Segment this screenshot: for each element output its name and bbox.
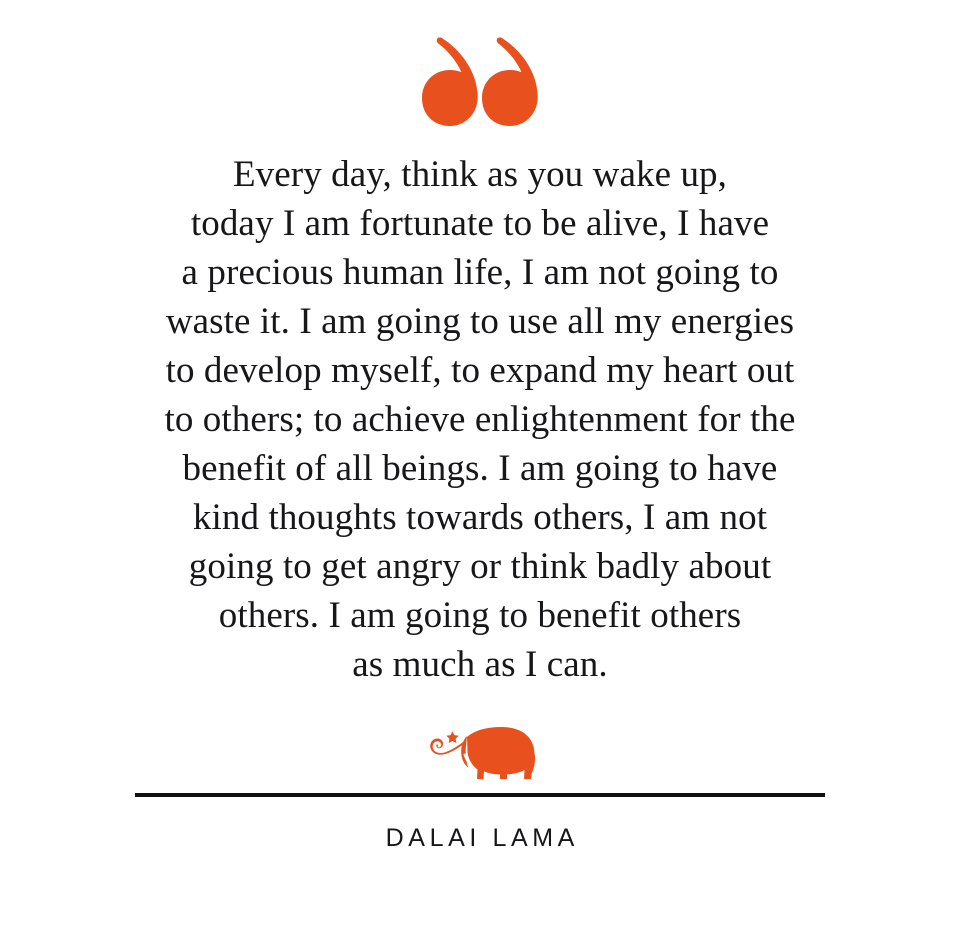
quote-line: as much as I can. [80, 640, 880, 689]
quote-line: others. I am going to benefit others [80, 591, 880, 640]
quote-line: benefit of all beings. I am going to hav… [80, 444, 880, 493]
attribution-name: DALAI LAMA [381, 824, 579, 853]
quote-line: kind thoughts towards others, I am not [80, 493, 880, 542]
divider-rule [135, 793, 825, 797]
logo-area [421, 719, 539, 781]
quote-line: Every day, think as you wake up, [80, 150, 880, 199]
quote-line: to develop myself, to expand my heart ou… [80, 346, 880, 395]
quote-line: going to get angry or think badly about [80, 542, 880, 591]
double-open-quote-icon [420, 36, 540, 128]
quote-text: Every day, think as you wake up, today I… [80, 150, 880, 689]
quote-line: today I am fortunate to be alive, I have [80, 199, 880, 248]
quote-line: to others; to achieve enlightenment for … [80, 395, 880, 444]
elephant-icon [421, 723, 539, 781]
quote-line: waste it. I am going to use all my energ… [80, 297, 880, 346]
quote-card: Every day, think as you wake up, today I… [0, 0, 960, 950]
quote-line: a precious human life, I am not going to [80, 248, 880, 297]
